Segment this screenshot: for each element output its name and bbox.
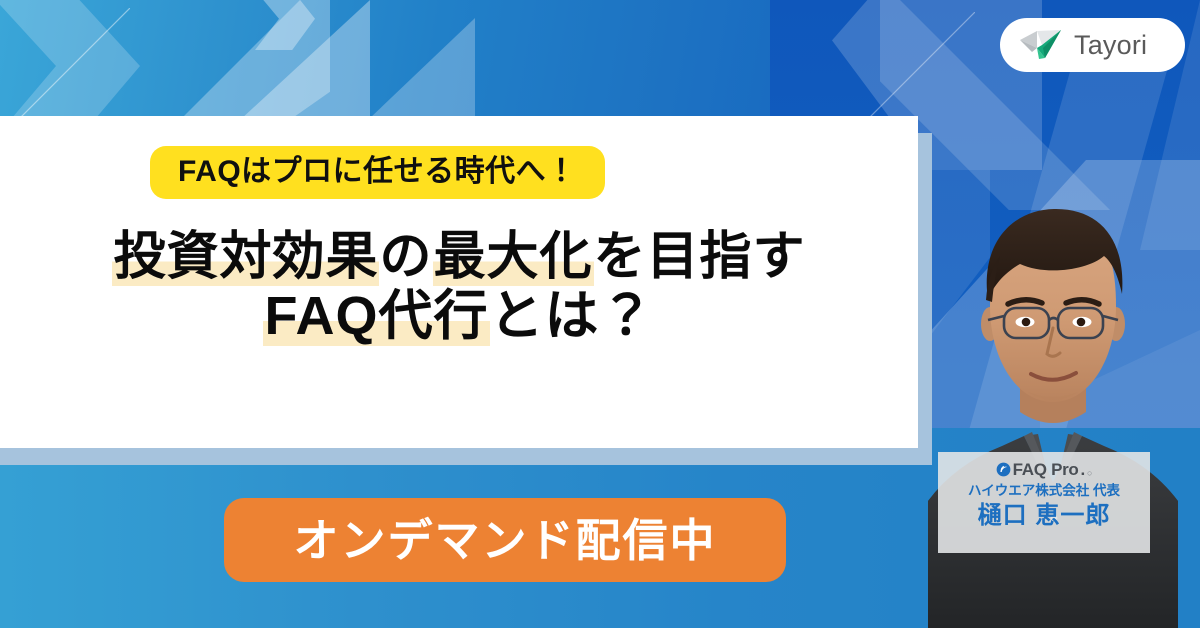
headline-line-1: 投資対効果の最大化を目指す bbox=[0, 228, 918, 286]
faq-pro-logo-trademark: ○ bbox=[1087, 469, 1092, 480]
headline-text-1: の bbox=[379, 228, 432, 286]
headline-text-3: とは？ bbox=[490, 286, 655, 346]
headline: 投資対効果の最大化を目指す FAQ代行とは？ bbox=[0, 228, 918, 347]
speaker-company: ハイウエア株式会社 代表 bbox=[968, 484, 1120, 499]
tagline-badge: FAQはプロに任せる時代へ！ bbox=[150, 146, 605, 199]
tagline-badge-text: FAQはプロに任せる時代へ！ bbox=[178, 155, 577, 188]
faq-pro-logo-text: FAQ Pro bbox=[1013, 461, 1079, 478]
faq-pro-swirl-icon bbox=[996, 462, 1011, 477]
headline-highlight-3: FAQ代行 bbox=[263, 286, 489, 346]
faq-pro-logo-suffix: . bbox=[1081, 461, 1085, 478]
banner-stage: FAQ Pro . ○ ハイウエア株式会社 代表 樋口 恵一郎 FAQはプロに任… bbox=[0, 0, 1200, 628]
cta-button-label: オンデマンド配信中 bbox=[293, 518, 716, 563]
tayori-logo-text: Tayori bbox=[1074, 32, 1147, 59]
tayori-logo[interactable]: Tayori bbox=[1000, 18, 1185, 72]
headline-line-2: FAQ代行とは？ bbox=[0, 286, 918, 346]
headline-highlight-2: 最大化 bbox=[433, 228, 594, 286]
speaker-nameplate: FAQ Pro . ○ ハイウエア株式会社 代表 樋口 恵一郎 bbox=[938, 452, 1150, 553]
cta-button[interactable]: オンデマンド配信中 bbox=[224, 498, 786, 582]
paper-plane-icon bbox=[1018, 28, 1064, 62]
faq-pro-logo: FAQ Pro . ○ bbox=[996, 458, 1093, 480]
headline-text-2: を目指す bbox=[594, 228, 806, 286]
headline-highlight-1: 投資対効果 bbox=[112, 228, 379, 286]
speaker-name: 樋口 恵一郎 bbox=[978, 503, 1111, 529]
speaker-portrait bbox=[928, 196, 1178, 628]
